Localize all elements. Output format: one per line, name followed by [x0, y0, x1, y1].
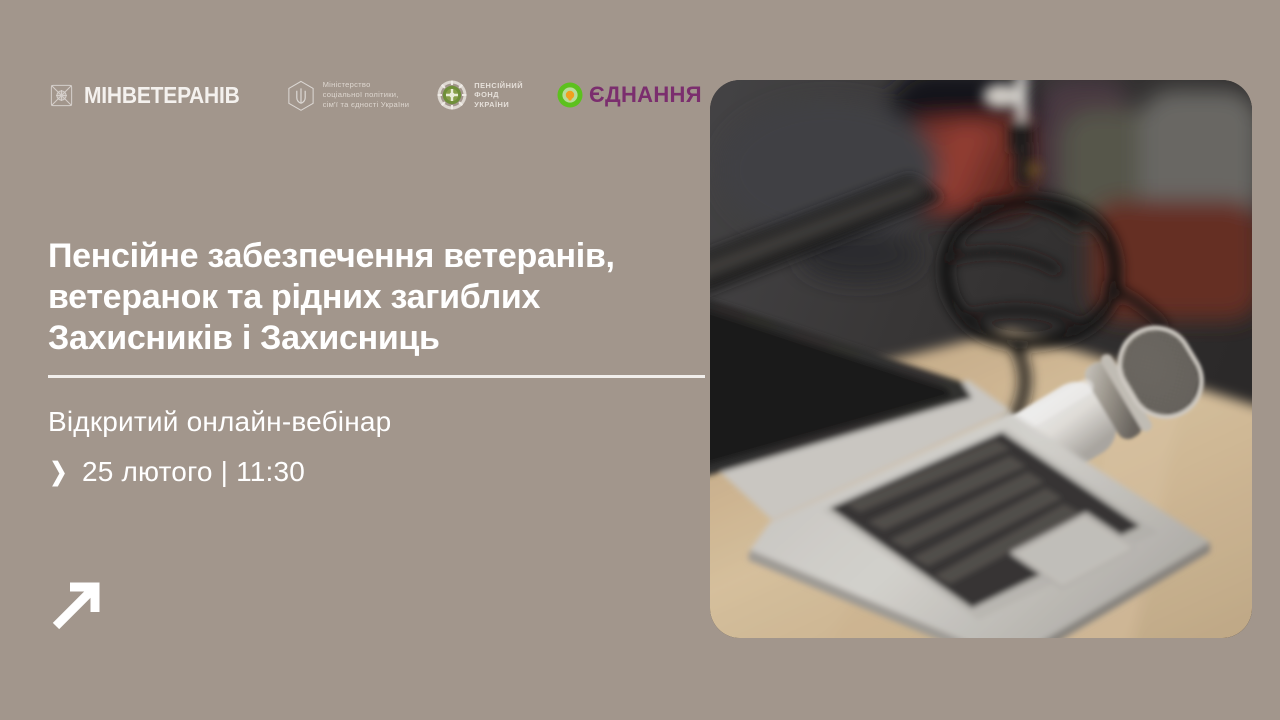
pfu-line-1: ПЕНСІЙНИЙ	[474, 81, 523, 90]
pfu-line-2: ФОНД	[474, 90, 523, 99]
chevron-right-icon: ❯	[50, 460, 68, 485]
logo-minveteraniv: МІНВЕТЕРАНІВ	[48, 72, 240, 118]
logo-ministry-social-policy-lines: Міністерство соціальної політики, сім'ї …	[323, 80, 410, 110]
event-datetime-row: ❯ 25 лютого | 11:30	[48, 455, 305, 489]
minsoc-line-3: сім'ї та єдності України	[323, 100, 410, 110]
minsoc-line-2: соціальної політики,	[323, 90, 410, 100]
logo-pension-fund-ukraine: ПЕНСІЙНИЙ ФОНД УКРАЇНИ	[437, 72, 523, 118]
page-title: Пенсійне забезпечення ветеранів, ветеран…	[48, 236, 698, 359]
ukraine-trident-hexagon-emblem-icon	[287, 80, 315, 111]
veterans-ministry-cross-emblem-icon	[48, 82, 75, 109]
ednannia-green-ring-icon	[557, 82, 583, 108]
logo-ministry-social-policy: Міністерство соціальної політики, сім'ї …	[287, 72, 410, 118]
logo-ednannia: ЄДНАННЯ	[557, 72, 702, 118]
partner-logo-bar: МІНВЕТЕРАНІВ Міністерство соціальної пол…	[48, 72, 702, 118]
event-type-label: Відкритий онлайн-вебінар	[48, 405, 391, 439]
logo-ednannia-wordmark: ЄДНАННЯ	[589, 84, 702, 106]
pfu-line-3: УКРАЇНИ	[474, 100, 523, 109]
divider	[48, 375, 705, 378]
logo-pension-fund-lines: ПЕНСІЙНИЙ ФОНД УКРАЇНИ	[474, 81, 523, 109]
pension-fund-sunburst-emblem-icon	[437, 80, 467, 110]
logo-minveteraniv-wordmark: МІНВЕТЕРАНІВ	[84, 83, 240, 107]
minsoc-line-1: Міністерство	[323, 80, 410, 90]
studio-microphone-and-laptop-photo	[710, 80, 1252, 638]
webinar-announcement-poster: МІНВЕТЕРАНІВ Міністерство соціальної пол…	[0, 0, 1280, 720]
arrow-up-right-icon	[48, 578, 104, 634]
event-datetime: 25 лютого | 11:30	[82, 455, 305, 489]
